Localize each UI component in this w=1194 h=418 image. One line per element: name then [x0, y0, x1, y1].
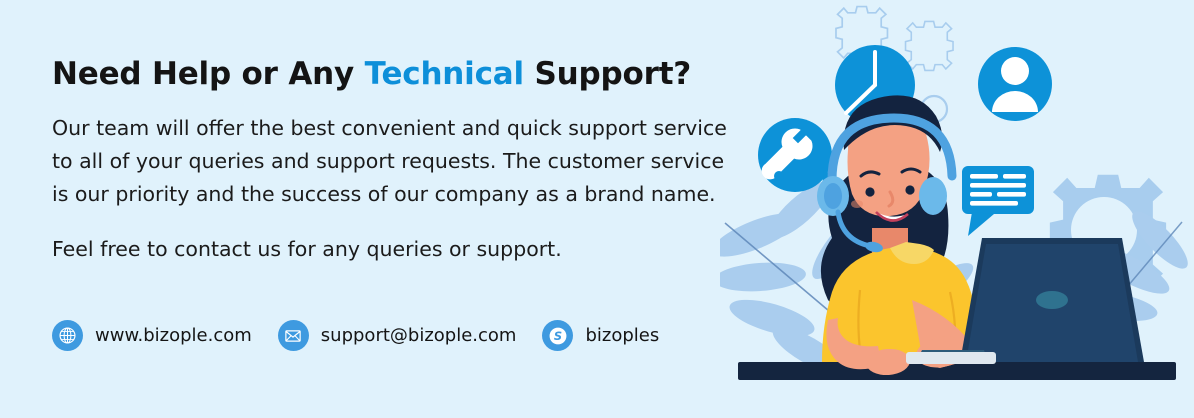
user-avatar-icon — [978, 47, 1052, 121]
headline-part-1: Need Help or Any — [52, 56, 365, 92]
contact-item-skype[interactable]: S bizoples — [542, 320, 659, 351]
contact-label-email: support@bizople.com — [321, 325, 517, 346]
contact-item-website[interactable]: www.bizople.com — [52, 320, 252, 351]
desk — [738, 362, 1176, 380]
headline-part-2: Support? — [524, 56, 691, 92]
globe-icon — [52, 320, 83, 351]
headline-accent: Technical — [365, 56, 524, 92]
text-content: Need Help or Any Technical Support? Our … — [52, 56, 732, 266]
envelope-icon — [278, 320, 309, 351]
page-title: Need Help or Any Technical Support? — [52, 56, 732, 92]
body-paragraph-1: Our team will offer the best convenient … — [52, 92, 732, 211]
body-paragraph-2: Feel free to contact us for any queries … — [52, 211, 732, 266]
svg-text:S: S — [554, 329, 562, 343]
contact-label-website: www.bizople.com — [95, 325, 252, 346]
chat-bubble-icon — [962, 166, 1034, 236]
support-agent-figure — [817, 95, 978, 376]
contact-label-skype: bizoples — [585, 325, 659, 346]
support-agent-illustration — [720, 0, 1194, 418]
contact-row: www.bizople.com support@bizople.com S bi… — [52, 320, 685, 351]
contact-item-email[interactable]: support@bizople.com — [278, 320, 517, 351]
support-banner: Need Help or Any Technical Support? Our … — [0, 0, 1194, 418]
skype-icon: S — [542, 320, 573, 351]
